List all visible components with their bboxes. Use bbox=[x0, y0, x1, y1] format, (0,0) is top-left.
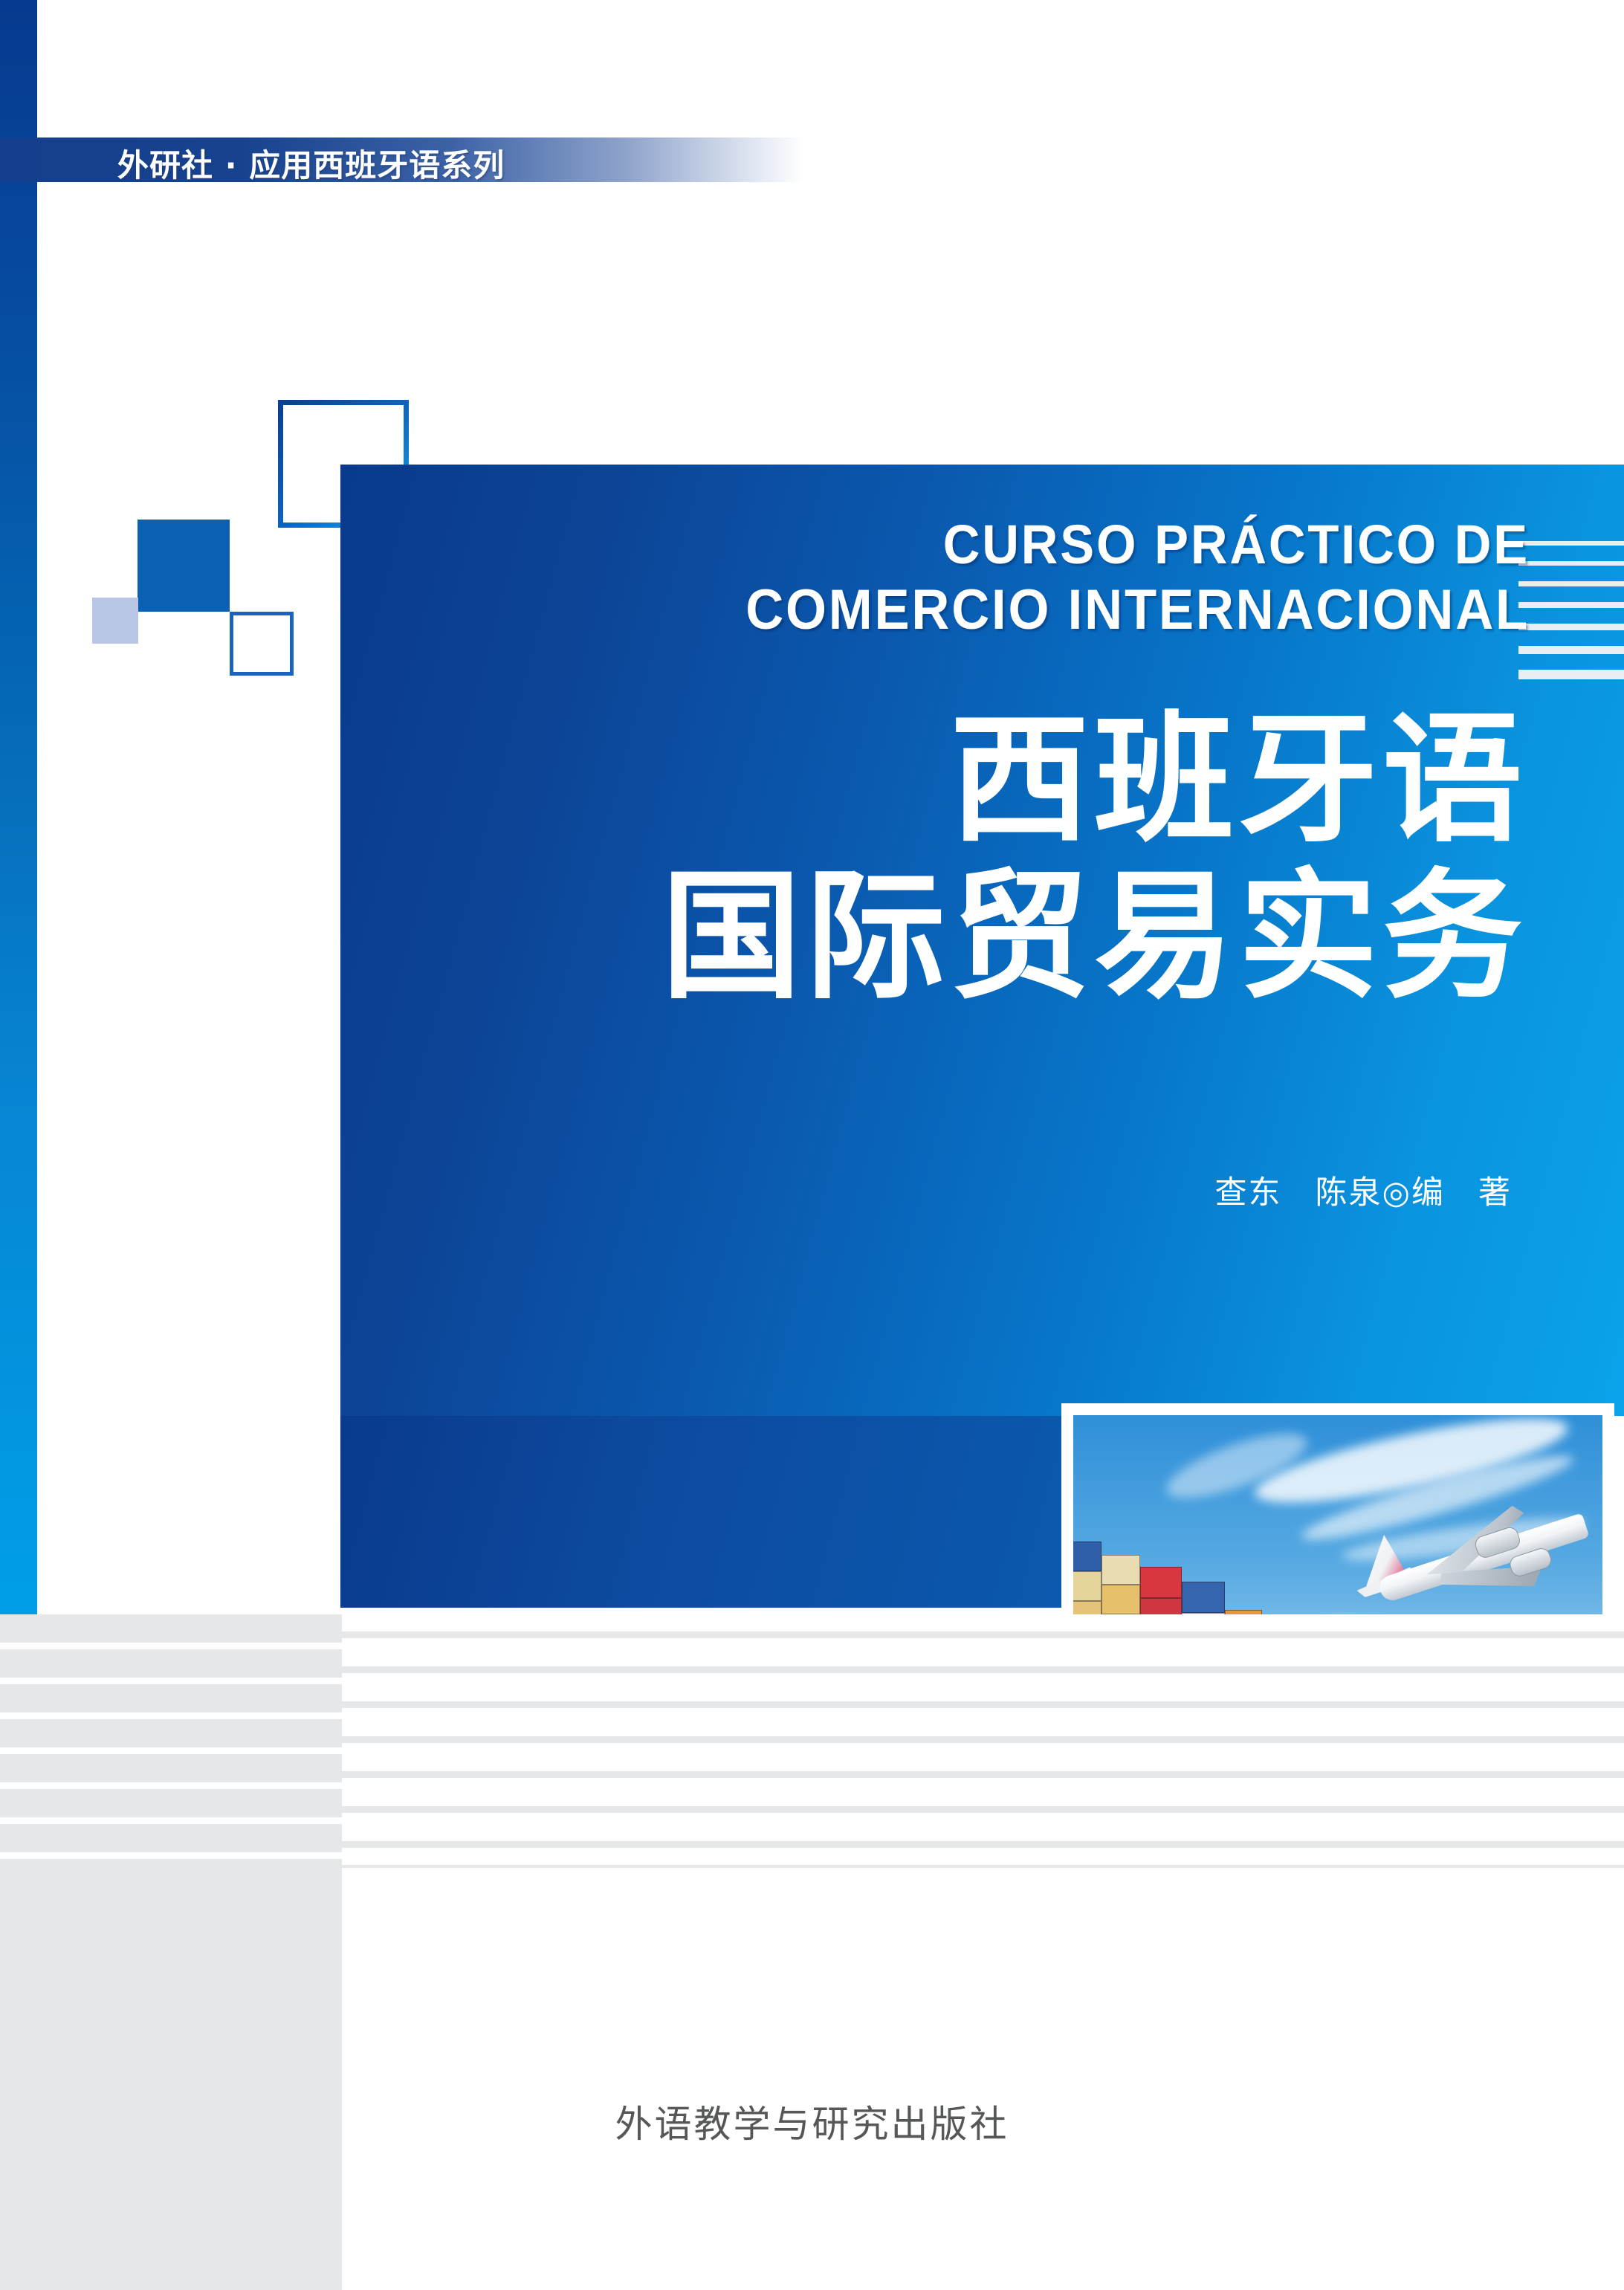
book-cover: 外研社 · 应用西班牙语系列 CURSO PRÁCTICO DE COMERCI… bbox=[0, 0, 1624, 2290]
chinese-title: 西班牙语 国际贸易实务 bbox=[340, 702, 1527, 1015]
stripe-line bbox=[342, 1736, 1624, 1743]
stripe-gap bbox=[0, 1852, 342, 1859]
stripe-gap bbox=[0, 1747, 342, 1754]
publisher-name: 外语教学与研究出版社 bbox=[0, 2095, 1624, 2148]
stripe-line bbox=[342, 1701, 1624, 1708]
shipping-container bbox=[1182, 1582, 1225, 1613]
spanish-title-line2: COMERCIO INTERNACIONAL bbox=[424, 578, 1530, 644]
decorative-bar bbox=[1518, 624, 1624, 630]
decorative-bar bbox=[1518, 581, 1624, 586]
shipping-container bbox=[1073, 1542, 1101, 1571]
stripe-line bbox=[342, 1841, 1624, 1848]
stripe-line bbox=[342, 1666, 1624, 1673]
stripe-gap bbox=[0, 1678, 342, 1684]
shipping-container bbox=[1101, 1585, 1140, 1614]
stripe-pattern-right bbox=[342, 1614, 1624, 2290]
stripe-line bbox=[342, 1865, 1624, 1868]
stripe-line bbox=[342, 1806, 1624, 1813]
author-line: 查东 陈泉◎编 著 bbox=[340, 1167, 1512, 1213]
decorative-square-filled-light bbox=[92, 598, 138, 644]
spanish-title-line1: CURSO PRÁCTICO DE bbox=[424, 513, 1530, 578]
chinese-title-line2: 国际贸易实务 bbox=[340, 859, 1527, 1016]
stripe-line bbox=[342, 1631, 1624, 1638]
stripe-gap bbox=[0, 1817, 342, 1824]
decorative-bar bbox=[1518, 561, 1624, 566]
shipping-container bbox=[1140, 1567, 1182, 1598]
decorative-bar bbox=[1518, 541, 1624, 546]
decorative-bar-group bbox=[1518, 541, 1624, 695]
series-banner-text: 外研社 · 应用西班牙语系列 bbox=[117, 140, 505, 186]
stripe-line bbox=[342, 1771, 1624, 1778]
decorative-bar bbox=[1518, 670, 1624, 679]
stripe-pattern-left bbox=[0, 1614, 342, 2290]
spine-gradient-strip bbox=[0, 0, 37, 1614]
title-panel-lower-block bbox=[340, 1416, 1061, 1608]
stripe-gap bbox=[0, 1643, 342, 1649]
decorative-square-outline-small bbox=[230, 612, 294, 676]
shipping-container bbox=[1073, 1571, 1101, 1601]
decorative-square-filled-medium bbox=[138, 520, 230, 612]
spanish-title: CURSO PRÁCTICO DE COMERCIO INTERNACIONAL bbox=[424, 513, 1530, 643]
airplane-fuselage bbox=[1376, 1513, 1589, 1603]
stripe-gap bbox=[0, 1712, 342, 1719]
chinese-title-line1: 西班牙语 bbox=[340, 702, 1527, 859]
decorative-bar bbox=[1518, 602, 1624, 608]
decorative-bar bbox=[1518, 646, 1624, 654]
shipping-container bbox=[1101, 1555, 1140, 1585]
stripe-gap bbox=[0, 1782, 342, 1789]
